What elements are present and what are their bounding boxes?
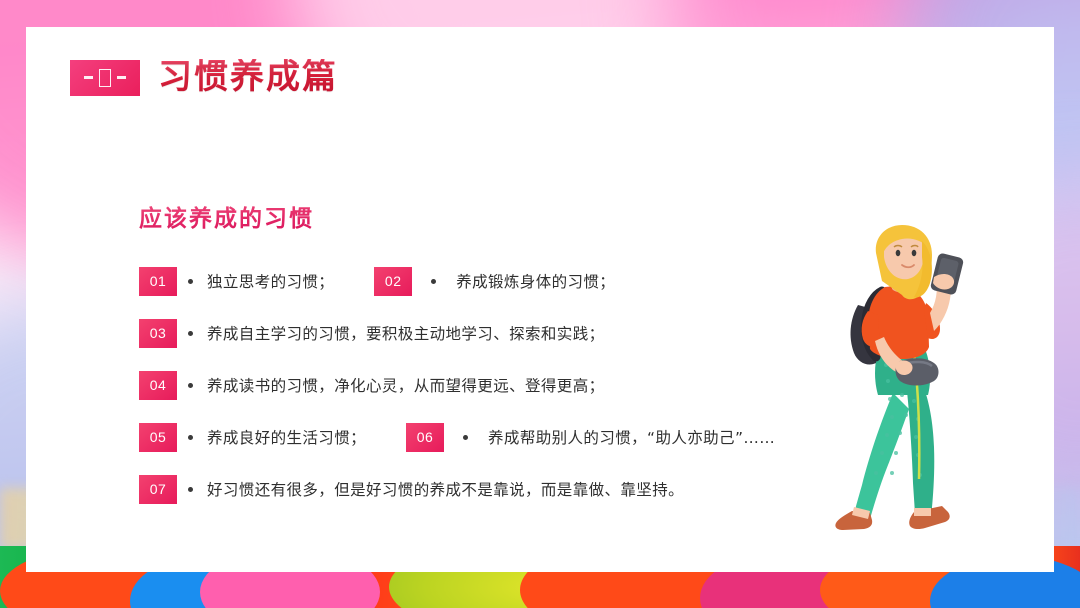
habit-text: 养成读书的习惯，净化心灵，从而望得更远、登得更高； — [207, 374, 605, 396]
habit-text: 养成帮助别人的习惯，“助人亦助己”…… — [488, 426, 775, 448]
slide-canvas: 习惯养成篇 应该养成的习惯 01独立思考的习惯；02养成锻炼身体的习惯；03养成… — [0, 0, 1080, 608]
bullet-dot-icon — [188, 331, 193, 336]
habit-number-badge: 07 — [139, 475, 177, 504]
page-title: 习惯养成篇 — [158, 59, 338, 96]
bullet-dot-icon — [463, 435, 468, 440]
section-heading: 应该养成的习惯 — [139, 199, 314, 233]
habit-item-05[interactable]: 05养成良好的生活习惯； — [139, 423, 366, 452]
badge-dash-left-icon — [84, 76, 93, 79]
habit-text: 好习惯还有很多，但是好习惯的养成不是靠说，而是靠做、靠坚持。 — [207, 478, 684, 500]
bullet-dot-icon — [431, 279, 436, 284]
habit-text: 养成锻炼身体的习惯； — [456, 270, 615, 292]
habit-item-04[interactable]: 04养成读书的习惯，净化心灵，从而望得更远、登得更高； — [139, 371, 605, 400]
habit-number-badge: 04 — [139, 371, 177, 400]
slide-title-row: 习惯养成篇 — [70, 59, 338, 96]
bullet-dot-icon — [188, 435, 193, 440]
habit-row: 05养成良好的生活习惯；06养成帮助别人的习惯，“助人亦助己”…… — [139, 411, 879, 463]
habit-text: 独立思考的习惯； — [207, 270, 334, 292]
habit-number-badge: 01 — [139, 267, 177, 296]
bullet-dot-icon — [188, 279, 193, 284]
habit-text: 养成良好的生活习惯； — [207, 426, 366, 448]
habit-number-badge: 05 — [139, 423, 177, 452]
habit-item-02[interactable]: 02养成锻炼身体的习惯； — [374, 267, 615, 296]
habit-item-06[interactable]: 06养成帮助别人的习惯，“助人亦助己”…… — [406, 423, 775, 452]
habit-row: 03养成自主学习的习惯，要积极主动地学习、探索和实践； — [139, 307, 879, 359]
habit-number-badge: 02 — [374, 267, 412, 296]
habit-row: 01独立思考的习惯；02养成锻炼身体的习惯； — [139, 255, 879, 307]
walking-woman-with-phone-illustration — [830, 223, 990, 533]
habit-item-01[interactable]: 01独立思考的习惯； — [139, 267, 334, 296]
bullet-dot-icon — [188, 383, 193, 388]
habit-number-badge: 06 — [406, 423, 444, 452]
habit-text: 养成自主学习的习惯，要积极主动地学习、探索和实践； — [207, 322, 605, 344]
habit-row: 07好习惯还有很多，但是好习惯的养成不是靠说，而是靠做、靠坚持。 — [139, 463, 879, 515]
badge-square-icon — [99, 69, 111, 87]
content-card: 习惯养成篇 应该养成的习惯 01独立思考的习惯；02养成锻炼身体的习惯；03养成… — [26, 27, 1054, 572]
badge-dash-right-icon — [117, 76, 126, 79]
habit-row: 04养成读书的习惯，净化心灵，从而望得更远、登得更高； — [139, 359, 879, 411]
bullet-dot-icon — [188, 487, 193, 492]
habit-item-03[interactable]: 03养成自主学习的习惯，要积极主动地学习、探索和实践； — [139, 319, 605, 348]
habit-list: 01独立思考的习惯；02养成锻炼身体的习惯；03养成自主学习的习惯，要积极主动地… — [139, 255, 879, 515]
title-badge — [70, 60, 140, 96]
habit-item-07[interactable]: 07好习惯还有很多，但是好习惯的养成不是靠说，而是靠做、靠坚持。 — [139, 475, 684, 504]
habit-number-badge: 03 — [139, 319, 177, 348]
